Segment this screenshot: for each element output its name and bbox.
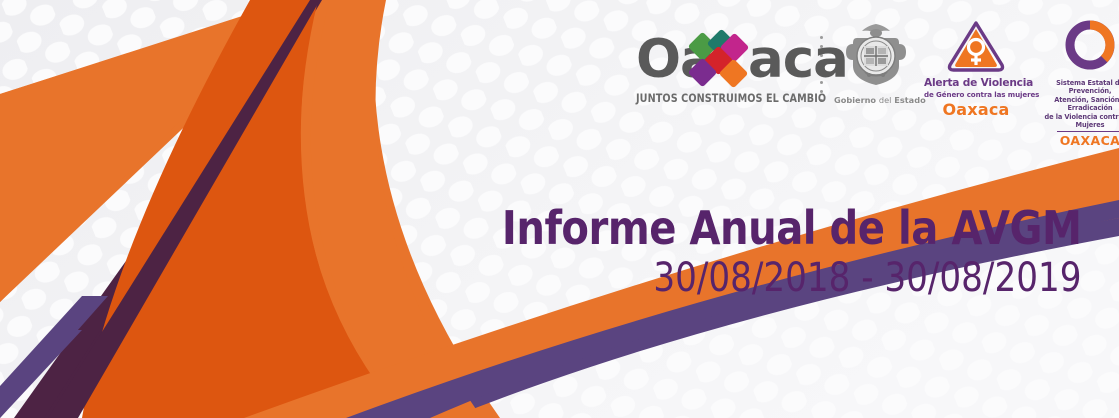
avgm-annual-report-banner: Oa aca JUNTOS CONSTRUIMOS EL CAMBIO [0,0,1119,418]
oaxaca-logo: Oa aca JUNTOS CONSTRUIMOS EL CAMBIO [636,18,808,105]
sistema-text-block: Sistema Estatal de Prevención, Atención,… [1036,79,1119,129]
sistema-estatal-logo: Sistema Estatal de Prevención, Atención,… [1036,18,1119,148]
alerta-line1: Alerta de Violencia [924,77,1028,89]
alerta-triangle-female-symbol-icon [946,20,1006,72]
oaxaca-word-right: aca [748,34,848,86]
sistema-line2: Atención, Sanción y Erradicación [1036,96,1119,113]
gobierno-caption: Gobierno del Estado [834,95,918,105]
sistema-divider-rule [1057,131,1119,132]
oaxaca-diamond-cluster-icon [690,32,748,90]
sistema-ring-icon [1063,18,1117,72]
oaxaca-wordmark: Oa aca [636,34,808,86]
gobierno-caption-word3: Estado [894,95,925,105]
sistema-line3: de la Violencia contra las Mujeres [1036,113,1119,130]
gobierno-caption-word1: Gobierno [834,95,876,105]
alerta-state: Oaxaca [924,100,1028,119]
headline-block: Informe Anual de la AVGM 30/08/2018 - 30… [484,203,1081,301]
logo-bar: Oa aca JUNTOS CONSTRUIMOS EL CAMBIO [636,18,1119,114]
alerta-violencia-logo: Alerta de Violencia de Género contra las… [924,18,1028,119]
alerta-line2: de Género contra las mujeres [924,90,1028,99]
oaxaca-tagline: JUNTOS CONSTRUIMOS EL CAMBIO [636,91,798,105]
page-title: Informe Anual de la AVGM [501,203,1081,253]
gobierno-caption-word2: del [879,95,892,105]
sistema-state: OAXACA [1036,133,1119,148]
sistema-line1: Sistema Estatal de Prevención, [1036,79,1119,96]
oaxaca-coat-of-arms-icon [845,22,907,88]
date-range: 30/08/2018 - 30/08/2019 [513,255,1081,301]
